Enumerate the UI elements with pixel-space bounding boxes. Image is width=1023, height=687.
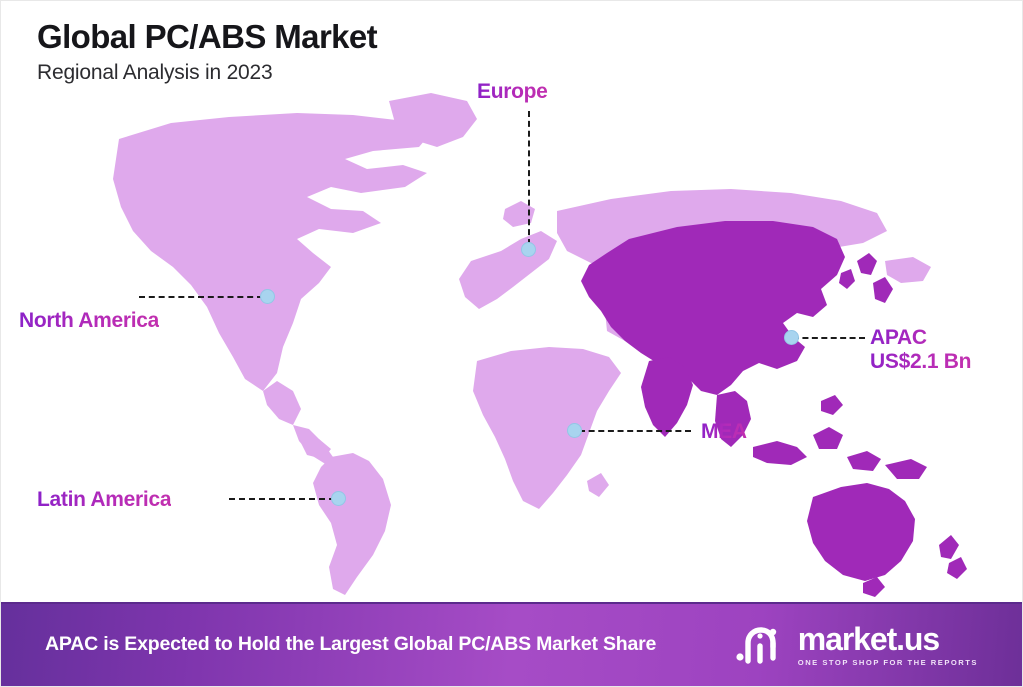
region-label-mea: MEA [701,420,747,444]
infographic-canvas: Global PC/ABS Market Regional Analysis i… [0,0,1023,687]
leader-line-apac [793,337,865,339]
leader-line-latin-america [229,498,335,500]
region-label-apac: APAC US$2.1 Bn [870,326,971,375]
market-us-logo-icon [735,624,789,666]
leader-line-europe [528,111,530,245]
map-marker-north-america[interactable] [260,289,275,304]
region-label-latin-america: Latin America [37,488,171,512]
region-label-apac-name: APAC [870,326,927,349]
map-marker-apac[interactable] [784,330,799,345]
region-label-europe: Europe [477,80,548,104]
map-marker-europe[interactable] [521,242,536,257]
region-label-north-america: North America [19,309,159,333]
page-title: Global PC/ABS Market [37,19,377,56]
map-marker-latin-america[interactable] [331,491,346,506]
footer-caption: APAC is Expected to Hold the Largest Glo… [45,632,656,658]
logo-text-block: market.us ONE STOP SHOP FOR THE REPORTS [798,623,978,667]
map-marker-mea[interactable] [567,423,582,438]
brand-logo[interactable]: market.us ONE STOP SHOP FOR THE REPORTS [735,623,1002,667]
logo-name: market.us [798,623,978,655]
leader-line-north-america [139,296,263,298]
logo-tagline: ONE STOP SHOP FOR THE REPORTS [798,659,978,667]
footer-bar: APAC is Expected to Hold the Largest Glo… [1,602,1023,686]
region-value-apac: US$2.1 Bn [870,350,971,374]
leader-line-mea [579,430,691,432]
